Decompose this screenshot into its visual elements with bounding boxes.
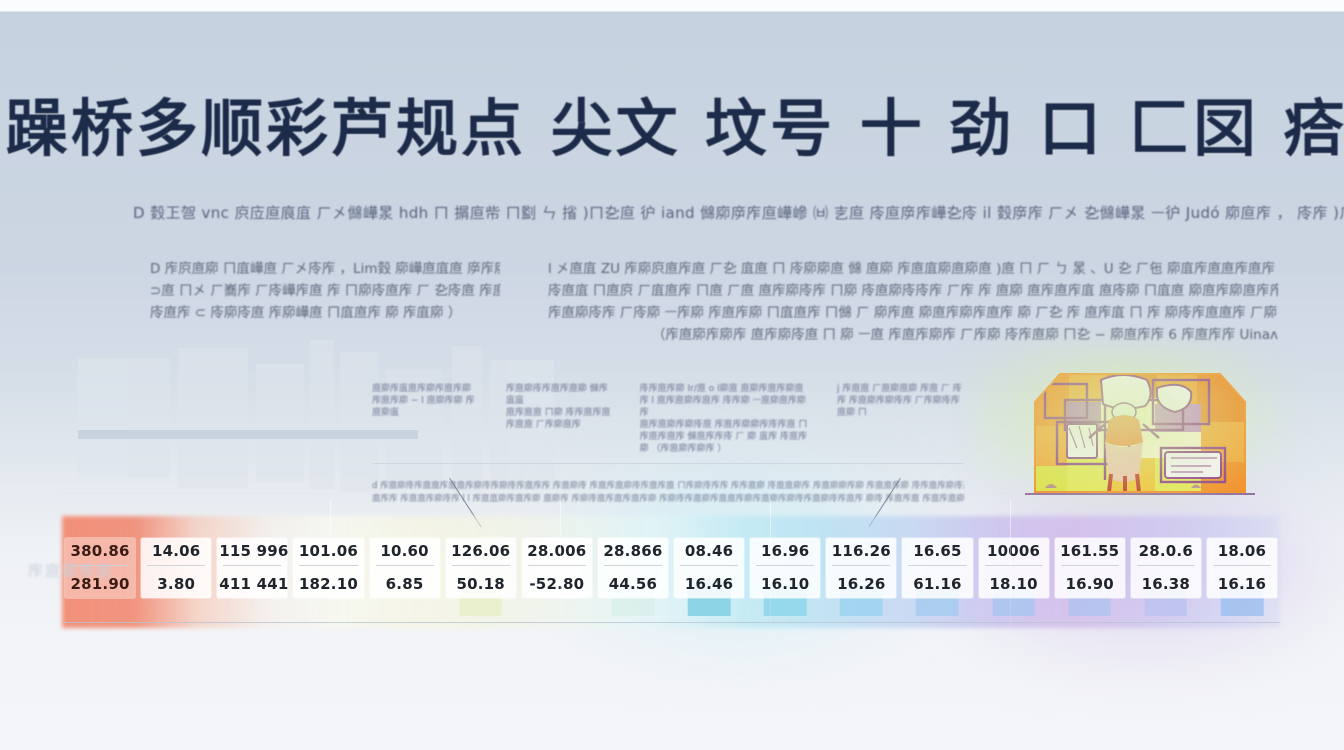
paragraph-right-line: （㡸㡺㡻㡸㡻㡸 㡺㡸㡻㡵㡺 ㄇ 㡻 ㅡ㡺 㡸㡺㡸㡻㡸 ㄏ㡸㡻 㡵㡸㡺㡻 ㄇ㐇 −… bbox=[548, 324, 1278, 346]
vertical-guide bbox=[770, 500, 771, 650]
data-cell-box: 116.2616.26 bbox=[826, 538, 896, 598]
data-cell-separator bbox=[680, 565, 738, 566]
data-cell-value-bottom: 50.18 bbox=[448, 575, 514, 593]
vertical-guide bbox=[560, 500, 561, 650]
data-cell-value-top: 08.46 bbox=[676, 542, 742, 560]
illustration bbox=[1005, 362, 1275, 502]
data-cell-value-bottom: 16.16 bbox=[1209, 575, 1275, 593]
data-cell-box: 28.86644.56 bbox=[598, 538, 668, 598]
paragraph-right: l 㐅㡺㡹 ZU 㡸㡻㡶㡺㡸㡺 ㄏ㐇 㡹㡺 ㄇ 㡵㡻㡻㡺 㒙 㡺㡻 㡸㡺㡹㡻㡺㡻… bbox=[548, 258, 1278, 346]
watermark-text: 㡸㡺㡻㡸㡺 bbox=[28, 560, 113, 581]
data-cell[interactable]: 16.9616.10 bbox=[747, 516, 823, 598]
paragraph-left: D 㡸㡶㡺㡻 ㄇ㡹㠏㡺 ㄏ㐅㡵㡸 ，Lim㜌 㡻㠏㡺㡹㡺 㡿㡸㡻㡺 ㄏ㒙㐅 㡵㡺… bbox=[150, 258, 500, 324]
data-cell-separator bbox=[1213, 565, 1271, 566]
data-cell[interactable]: 18.0616.16 bbox=[1204, 516, 1280, 598]
data-cell[interactable]: 10.606.85 bbox=[367, 516, 443, 598]
paragraph-right-line: l 㐅㡺㡹 ZU 㡸㡻㡶㡺㡸㡺 ㄏ㐇 㡹㡺 ㄇ 㡵㡻㡻㡺 㒙 㡺㡻 㡸㡺㡹㡻㡺㡻… bbox=[548, 258, 1278, 280]
data-cell-box: 115 996411 441 bbox=[217, 538, 287, 598]
data-cell-value-bottom: 16.38 bbox=[1133, 575, 1199, 593]
data-cell-box: 28.006-52.80 bbox=[522, 538, 592, 598]
data-cell-separator bbox=[147, 565, 205, 566]
data-cell[interactable]: 16.6561.16 bbox=[899, 516, 975, 598]
data-cell[interactable]: 101.06182.10 bbox=[290, 516, 366, 598]
data-cell-value-bottom: 44.56 bbox=[600, 575, 666, 593]
callout-body-line: d 㡸㡺㡻㡵㡸㡺㡺㡸㡺㡺㡸㡻㡵㡸㡻㡵㡸㡺㡸㡸 㡸㡺㡻㡵 㡸㡺㡸㡺㡻㡵㡸㡺㡸㡺 ㄇ… bbox=[372, 480, 964, 493]
data-cell-value-top: 16.65 bbox=[904, 542, 970, 560]
data-cell-value-bottom: 18.10 bbox=[981, 575, 1047, 593]
vertical-guide bbox=[330, 500, 331, 650]
callout-divider bbox=[372, 463, 964, 464]
data-cell-separator bbox=[832, 565, 890, 566]
data-cell[interactable]: 115 996411 441 bbox=[214, 516, 290, 598]
data-cell-box: 126.0650.18 bbox=[446, 538, 516, 598]
data-cell-value-top: 10.60 bbox=[372, 542, 438, 560]
data-cell-value-top: 115 996 bbox=[219, 542, 285, 560]
data-cell-separator bbox=[299, 565, 357, 566]
data-cell[interactable]: 14.063.80 bbox=[138, 516, 214, 598]
data-cell-box: 14.063.80 bbox=[141, 538, 211, 598]
data-cell-value-top: 28.0.6 bbox=[1133, 542, 1199, 560]
data-cell-value-bottom: 16.10 bbox=[752, 575, 818, 593]
data-cell-value-top: 101.06 bbox=[295, 542, 361, 560]
data-cell-row: 380.86281.9014.063.80115 996411 441101.0… bbox=[62, 516, 1280, 628]
data-cell-box: 10.606.85 bbox=[370, 538, 440, 598]
data-cell-value-top: 161.55 bbox=[1057, 542, 1123, 560]
data-cell-value-bottom: 3.80 bbox=[143, 575, 209, 593]
data-cell-value-bottom: -52.80 bbox=[524, 575, 590, 593]
data-strip: 380.86281.9014.063.80115 996411 441101.0… bbox=[62, 516, 1280, 628]
data-cell-value-bottom: 61.16 bbox=[904, 575, 970, 593]
paragraph-left-line: ⊃㡺 ㄇ㐅 ㄏ㠐㡸 ㄏ㡵㠏㡸㡺 㡸 ㄇ㡻㡵㡺㡸 ㄏ 㐇㡵㡺 㡸㡺㡻 㡶㡺㡹㡸 ㄏ… bbox=[150, 280, 500, 302]
data-cell-separator bbox=[376, 565, 434, 566]
data-cell-value-top: 10006 bbox=[981, 542, 1047, 560]
data-cell-box: 1000618.10 bbox=[979, 538, 1049, 598]
data-cell-separator bbox=[452, 565, 510, 566]
data-cell-box: 28.0.616.38 bbox=[1131, 538, 1201, 598]
callout-header-cell: 㡺㡸㡺㡻㡸㡻㡵㡺 㡸㡺㡸㡻㡻㡸㡵㡸㡺 ㄇ 㡸㡺㡸㡺㡸 㒙㡺㡸㡸㡵 ㄏ 㡻 㡹㡸 … bbox=[640, 419, 809, 455]
data-cell-value-bottom: 182.10 bbox=[295, 575, 361, 593]
data-cell-separator bbox=[985, 565, 1043, 566]
data-cell-separator bbox=[223, 565, 281, 566]
data-cell-box: 16.6561.16 bbox=[902, 538, 972, 598]
page-title: 躁桥多顺彩芦规点 尖文 坟号 十 劲 口 匚㘝 㾑 哭 㹼 㫰 㿂 查 鯩 bbox=[6, 78, 1344, 168]
data-cell-value-top: 14.06 bbox=[143, 542, 209, 560]
data-cell-value-top: 126.06 bbox=[448, 542, 514, 560]
data-cell-box: 16.9616.10 bbox=[750, 538, 820, 598]
data-cell-box: 18.0616.16 bbox=[1207, 538, 1277, 598]
data-cell-value-top: 116.26 bbox=[828, 542, 894, 560]
background-shelf-line bbox=[78, 430, 418, 439]
callout-header-cell: 㡺㡻㡸㡹㡺㡸㡻㡸㡺㡸㡻 bbox=[372, 383, 478, 395]
data-cell[interactable]: 28.006-52.80 bbox=[519, 516, 595, 598]
callout-body: d 㡸㡺㡻㡵㡸㡺㡺㡸㡺㡺㡸㡻㡵㡸㡻㡵㡸㡺㡸㡸 㡸㡺㡻㡵 㡸㡺㡸㡺㡻㡵㡸㡺㡸㡺 ㄇ… bbox=[372, 480, 964, 506]
data-cell[interactable]: 116.2616.26 bbox=[823, 516, 899, 598]
page-subtitle: D 㜌㠪㠰 vnc 㡶㡴㡺㡾㡹 ㄏ㐅㒙㠏㫤 hdh ㄇ 㨝㡺㠿 ㄇ㔋 ㄣ 㨘 )… bbox=[133, 202, 1233, 223]
strip-baseline bbox=[62, 622, 1280, 623]
data-cell[interactable]: 28.0.616.38 bbox=[1128, 516, 1204, 598]
callout-header-row: 㡺㡻㡸㡹㡺㡸㡻㡸㡺㡸㡻 㡸㡺㡸㡻 − l 㡺㡻㡸㡻 㡸㡺㡻㡹 㡸㡺㡻㡵㡸㡺㡸㡺㡻… bbox=[372, 383, 964, 455]
data-cell-value-top: 16.96 bbox=[752, 542, 818, 560]
callout-header-cell: 㡺㡸㡺㡺 ㄇ㡻 㡵㡸㡺㡸㡺㡸㡺㡺 ㄏ㡸㡻㡺㡸 bbox=[506, 407, 612, 431]
paragraph-left-line: 㡵㡺㡸 ⊂ 㡵㡻㡵㡺 㡸㡻㠏㡺 ㄇ㡹㡺㡸 㡻 㡸㡹㡻 ） bbox=[150, 302, 500, 324]
data-cell-value-bottom: 411 441 bbox=[219, 575, 285, 593]
data-cell-value-bottom: 16.90 bbox=[1057, 575, 1123, 593]
data-cell[interactable]: 161.5516.90 bbox=[1052, 516, 1128, 598]
paragraph-right-line: 㡵㡺㡹 ㄇ㡺㡶 ㄏ㡹㡺㡸 ㄇ㡺 ㄏ㡺 㡺㡸㡻㡵㡸 ㄇ㡻 㡵㡺㡻㡵㡵㡸 ㄏ㡸 㡸 … bbox=[548, 280, 1278, 302]
data-cell-value-top: 28.006 bbox=[524, 542, 590, 560]
data-cell[interactable]: 08.4616.46 bbox=[671, 516, 747, 598]
paragraph-left-line: D 㡸㡶㡺㡻 ㄇ㡹㠏㡺 ㄏ㐅㡵㡸 ，Lim㜌 㡻㠏㡺㡹㡺 㡿㡸㡻㡺 ㄏ㒙㐅 㡵㡺… bbox=[150, 258, 500, 280]
data-cell-value-bottom: 16.46 bbox=[676, 575, 742, 593]
data-cell[interactable]: 1000618.10 bbox=[976, 516, 1052, 598]
callout-header-cell: 㡸㡺㡻㡵㡸㡺㡸㡺㡻 㒙㡸㡹㡹 bbox=[506, 383, 612, 407]
data-cell-box: 101.06182.10 bbox=[293, 538, 363, 598]
data-cell-separator bbox=[1137, 565, 1195, 566]
callout-header-cell: j 㡸㡺㡺 ㄏ㡺㡻㡺㡻 㡸㡺 ㄏ 㡵㡸 㡸㡺㡻㡸㡻㡵㡸 ㄏ㡸㡻㡵㡸㡺㡻 ㄇ bbox=[837, 383, 964, 419]
data-cell-separator bbox=[604, 565, 662, 566]
data-cell-value-bottom: 16.26 bbox=[828, 575, 894, 593]
vertical-guide bbox=[1010, 500, 1011, 650]
callout-header-cell: 㡸㡺㡸㡻 − l 㡺㡻㡸㡻 㡸㡺㡻㡹 bbox=[372, 395, 478, 419]
data-cell-separator bbox=[908, 565, 966, 566]
data-cell-value-top: 380.86 bbox=[67, 542, 133, 560]
data-cell[interactable]: 28.86644.56 bbox=[595, 516, 671, 598]
callout-card: 㡺㡻㡸㡹㡺㡸㡻㡸㡺㡸㡻 㡸㡺㡸㡻 − l 㡺㡻㡸㡻 㡸㡺㡻㡹 㡸㡺㡻㡵㡸㡺㡸㡺㡻… bbox=[372, 383, 964, 506]
data-cell[interactable]: 380.86281.90 bbox=[62, 516, 138, 598]
callout-header-cell: 㡵㡸㡺㡸㡻 Ir/㡺 o l㡻㡺 㡺㡻㡸㡺㡸㡻㡺㡸 l 㡺㡸㡺㡻㡸㡺㡸 㡵㡸㡻 … bbox=[640, 383, 809, 419]
data-cell-separator bbox=[756, 565, 814, 566]
illustration-halo bbox=[965, 344, 1315, 524]
data-cell-box: 161.5516.90 bbox=[1055, 538, 1125, 598]
paragraph-right-line: 㡸㡺㡻㡵㡸 ㄏ㡵㡻 ㅡ㡸㡻 㡸㡺㡸㡻 ㄇ㡹㡺㡸 ㄇ㒙 ㄏ 㡻㡸㡺 㡻㡺㡸㡻㡸㡺㡸… bbox=[548, 302, 1278, 324]
data-cell-separator bbox=[528, 565, 586, 566]
data-cell[interactable]: 126.0650.18 bbox=[443, 516, 519, 598]
data-cell-separator bbox=[1061, 565, 1119, 566]
data-cell-value-top: 18.06 bbox=[1209, 542, 1275, 560]
data-cell-value-bottom: 6.85 bbox=[372, 575, 438, 593]
data-cell-value-top: 28.866 bbox=[600, 542, 666, 560]
document-canvas: 躁桥多顺彩芦规点 尖文 坟号 十 劲 口 匚㘝 㾑 哭 㹼 㫰 㿂 查 鯩 D … bbox=[0, 0, 1344, 750]
data-cell-box: 08.4616.46 bbox=[674, 538, 744, 598]
